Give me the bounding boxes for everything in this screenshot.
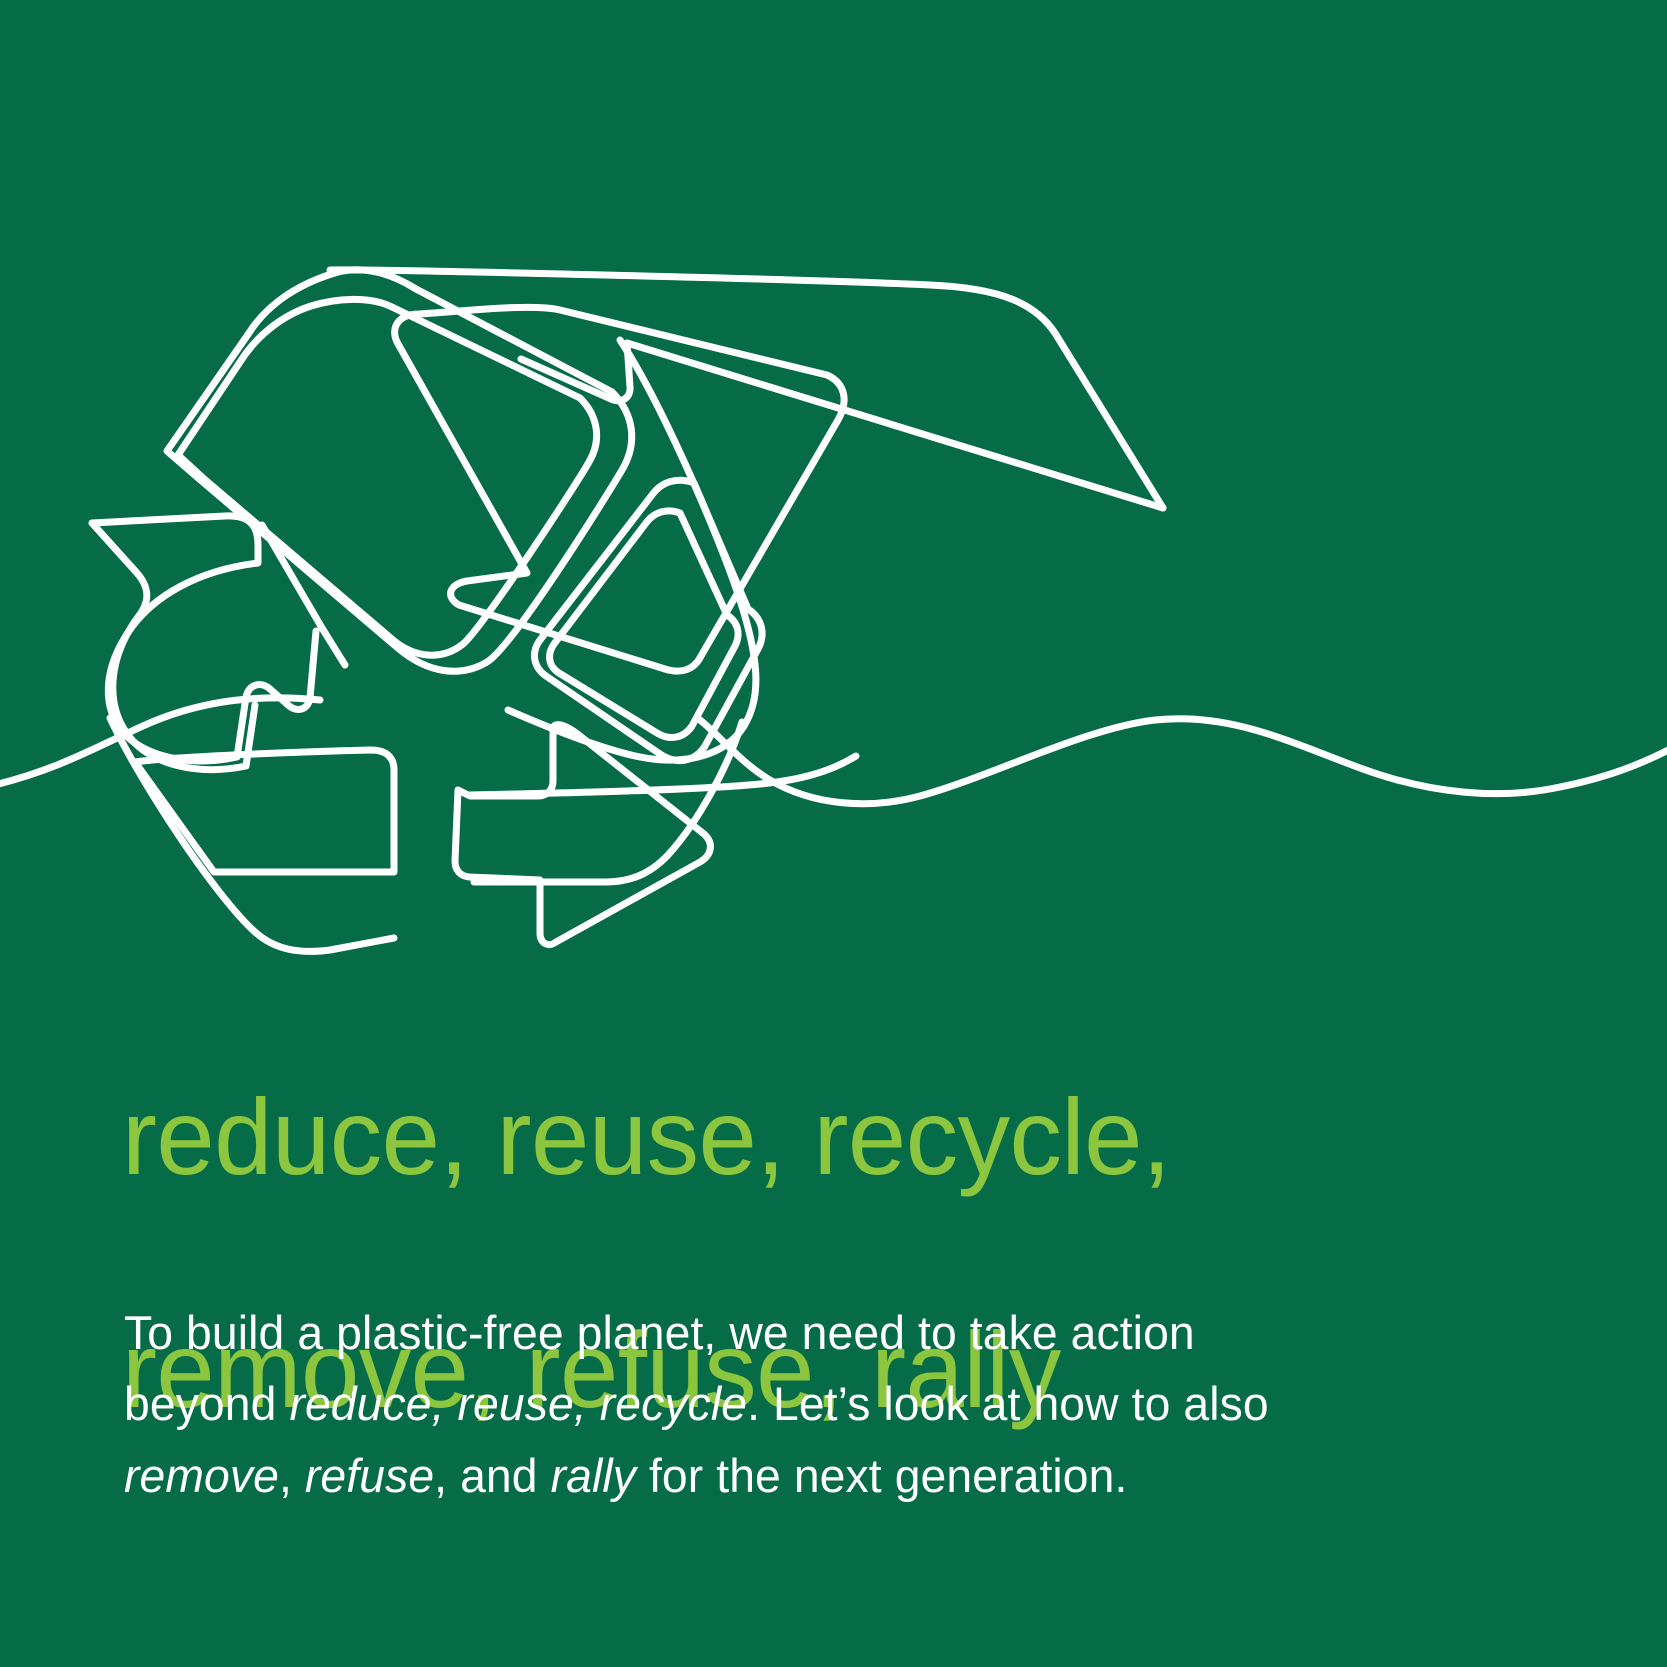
body-copy: To build a plastic-free planet, we need … bbox=[124, 1297, 1336, 1511]
body-copy-segment-4: , bbox=[279, 1449, 305, 1502]
body-copy-segment-7: rally bbox=[551, 1449, 636, 1502]
body-copy-segment-8: for the next generation. bbox=[636, 1449, 1127, 1502]
body-copy-segment-1: reduce, reuse, recycle bbox=[289, 1377, 747, 1430]
body-copy-segment-3: remove bbox=[124, 1449, 279, 1502]
body-copy-segment-5: refuse bbox=[305, 1449, 434, 1502]
headline-line-1: reduce, reuse, recycle, bbox=[122, 1079, 1499, 1196]
poster-canvas: reduce, reuse, recycle, remove, refuse, … bbox=[0, 0, 1667, 1667]
text-block: reduce, reuse, recycle, remove, refuse, … bbox=[0, 0, 1667, 1667]
body-copy-segment-6: , and bbox=[434, 1449, 550, 1502]
body-copy-segment-2: . Let’s look at how to also bbox=[747, 1377, 1269, 1430]
